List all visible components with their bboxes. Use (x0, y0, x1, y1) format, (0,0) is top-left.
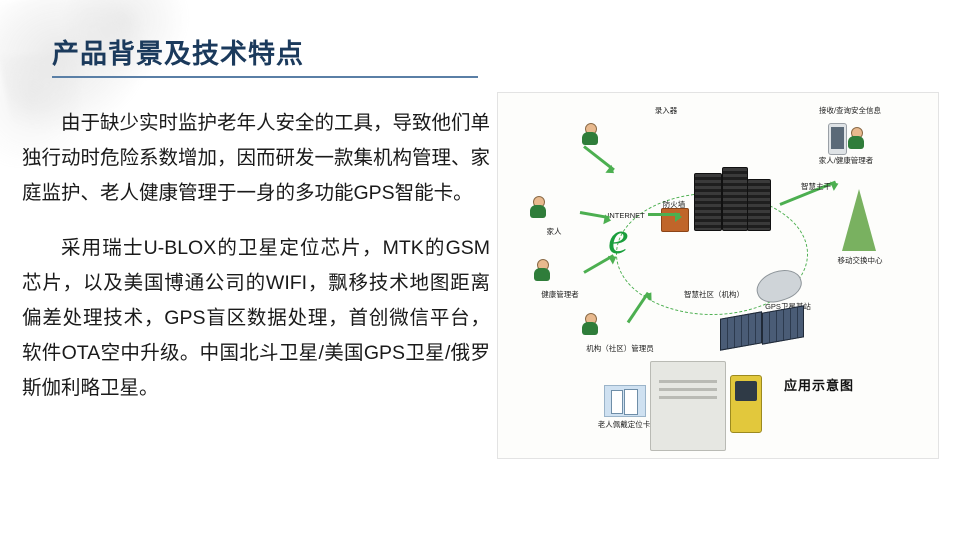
person-org-manager (582, 313, 598, 335)
pc-org-manager (594, 315, 628, 341)
figure-caption: 应用示意图 (784, 375, 854, 394)
pc-family (542, 198, 576, 224)
smart-community-label: 智慧社区（机构） (684, 289, 744, 300)
equipment-cabinet (650, 361, 726, 451)
paragraph-1: 由于缺少实时监护老年人安全的工具，导致他们单独行动时危险系数增加，因而研发一款集… (22, 106, 490, 211)
family-label: 家人 (547, 226, 562, 237)
server-rack-3 (747, 179, 771, 231)
arrow-family (580, 211, 610, 219)
person-family (530, 196, 546, 218)
solar-panel-2 (762, 305, 804, 344)
solar-panel-1 (720, 311, 762, 350)
recorder-label: 录入器 (655, 105, 678, 116)
mobile-switch-center-label: 移动交换中心 (838, 255, 883, 266)
server-rack-2 (722, 167, 748, 231)
pc-health-manager (546, 261, 580, 287)
internet-label: INTERNET (607, 211, 645, 220)
person-top-left (582, 123, 598, 145)
arrow-org (627, 292, 650, 324)
firewall-label: 防火墙 (663, 199, 686, 210)
title-underline (52, 76, 478, 78)
family-health-manager-label: 家人/健康管理者 (819, 155, 874, 166)
health-manager-label: 健康管理者 (541, 289, 579, 300)
paragraph-2: 采用瑞士U-BLOX的卫星定位芯片，MTK的GSM芯片，以及美国博通公司的WIF… (22, 231, 490, 406)
server-rack-1 (694, 173, 722, 231)
elderly-card-label: 老人佩戴定位卡 (598, 419, 651, 430)
body-text-block: 由于缺少实时监护老年人安全的工具，导致他们单独行动时危险系数增加，因而研发一款集… (22, 106, 490, 406)
slide-root: 产品背景及技术特点 由于缺少实时监护老年人安全的工具，导致他们单独行动时危险系数… (0, 0, 958, 544)
diagram-canvas: e INTERNET 防火墙 智慧社区（机构） 录入器 家人 健康管理者 (498, 93, 938, 458)
org-manager-label: 机构（社区）管理员 (586, 343, 654, 354)
person-health-manager (534, 259, 550, 281)
arrow-health (583, 254, 614, 274)
person-family-health (848, 127, 864, 149)
application-diagram-figure: e INTERNET 防火墙 智慧社区（机构） 录入器 家人 健康管理者 (497, 92, 939, 459)
page-title: 产品背景及技术特点 (52, 38, 482, 70)
recorder-device (648, 115, 682, 141)
pc-top-left (594, 125, 628, 151)
wisdom-backbone-label: 智慧主干 (801, 181, 831, 192)
emergency-phone (730, 375, 762, 433)
mobile-phone-icon (828, 123, 847, 155)
arrow-core-in (648, 213, 680, 216)
receive-info-label: 接收/查询安全信息 (819, 105, 881, 116)
elderly-card-photo (604, 385, 646, 417)
mobile-switch-tower-icon (842, 189, 876, 251)
title-block: 产品背景及技术特点 (52, 38, 482, 78)
